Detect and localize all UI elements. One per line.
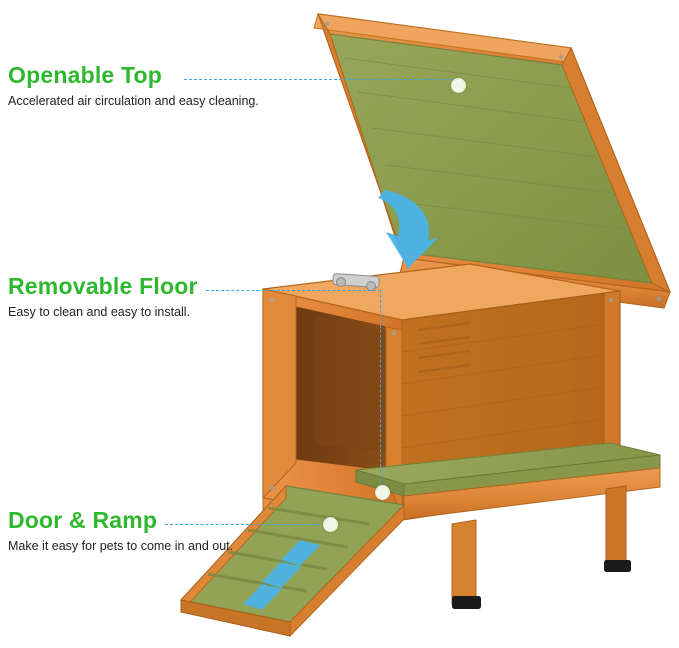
marker-openable-top	[451, 78, 466, 93]
annotation-door-ramp-title: Door & Ramp	[8, 508, 233, 533]
marker-removable-floor	[375, 485, 390, 500]
annotation-openable-top: Openable Top Accelerated air circulation…	[8, 63, 259, 109]
annotation-door-ramp: Door & Ramp Make it easy for pets to com…	[8, 508, 233, 554]
annotation-removable-floor-subtitle: Easy to clean and easy to install.	[8, 305, 198, 320]
openable-roof-lid	[314, 14, 670, 308]
product-feature-image: Openable Top Accelerated air circulation…	[0, 0, 679, 648]
leader-removable-floor-vertical	[380, 290, 381, 492]
annotation-door-ramp-subtitle: Make it easy for pets to come in and out…	[8, 539, 233, 554]
marker-door-ramp	[323, 517, 338, 532]
annotation-openable-top-subtitle: Accelerated air circulation and easy cle…	[8, 94, 259, 109]
leader-removable-floor	[206, 290, 381, 291]
annotation-openable-top-title: Openable Top	[8, 63, 259, 88]
annotation-removable-floor: Removable Floor Easy to clean and easy t…	[8, 274, 198, 320]
annotation-removable-floor-title: Removable Floor	[8, 274, 198, 299]
